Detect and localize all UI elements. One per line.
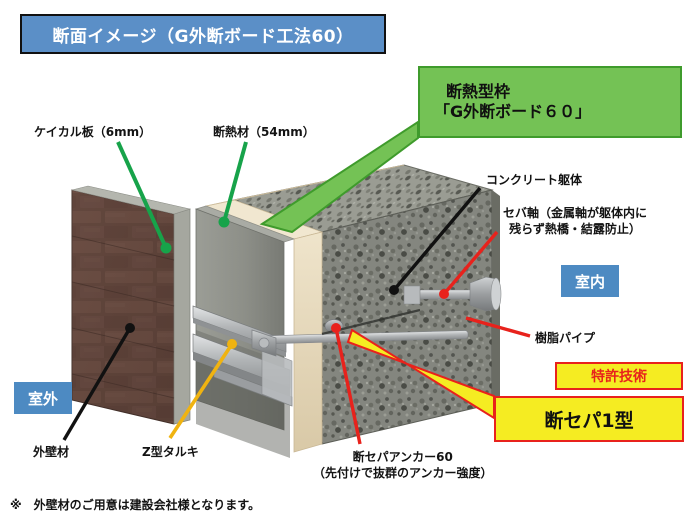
- label-insulation: 断熱材（54mm）: [213, 124, 315, 140]
- leader-seba-dot: [439, 289, 449, 299]
- product-box: 断セパ1型: [494, 396, 684, 442]
- leader-z-taruki-dot: [227, 339, 237, 349]
- brick-edge-core: [174, 209, 190, 424]
- leader-concrete-dot: [389, 285, 399, 295]
- seba-rod-bolt-head: [259, 338, 269, 348]
- diagram-title-banner: 断面イメージ（G外断ボード工法60）: [20, 14, 386, 54]
- label-resin-pipe: 樹脂パイプ: [535, 330, 595, 346]
- outdoor-side-badge: 室外: [14, 382, 72, 414]
- label-anchor-line2: （先付けで抜群のアンカー強度）: [313, 465, 493, 481]
- seba-rod-socket: [404, 286, 420, 304]
- brick-tint: [72, 190, 174, 424]
- leader-insulation-dot: [219, 217, 230, 228]
- label-anchor: 断セパアンカー60 （先付けで抜群のアンカー強度）: [313, 449, 493, 481]
- label-keikal-board: ケイカル板（6mm）: [34, 124, 151, 140]
- outdoor-badge-text: 室外: [28, 388, 58, 409]
- label-concrete-body: コンクリート躯体: [486, 172, 582, 188]
- leader-keikal-dot: [161, 243, 172, 254]
- callout-line-1: 断熱型枠: [446, 82, 510, 102]
- product-name-callout: 断熱型枠 「G外断ボード６０」: [418, 66, 682, 138]
- label-seba-shaft-line2: 残らず熱橋・結露防止）: [503, 221, 647, 237]
- leader-anchor-dot: [331, 323, 341, 333]
- leader-exterior-dot: [125, 323, 135, 333]
- diagram-canvas: 断面イメージ（G外断ボード工法60） 断熱型枠 「G外断ボード６０」 特許技術 …: [0, 0, 700, 525]
- footnote: ※ 外壁材のご用意は建設会社様となります。: [10, 496, 260, 513]
- indoor-badge-text: 室内: [575, 271, 605, 292]
- brick-exterior-panel: [72, 186, 190, 424]
- callout-line-2: 「G外断ボード６０」: [434, 102, 591, 122]
- label-seba-shaft: セバ軸（金属軸が躯体内に 残らず熱橋・結露防止）: [503, 205, 647, 237]
- patent-badge-text: 特許技術: [591, 366, 647, 386]
- label-exterior-wall: 外壁材: [33, 444, 69, 460]
- seba-rod-cap: [491, 278, 501, 310]
- label-z-taruki: Z型タルキ: [142, 444, 199, 460]
- label-anchor-line1: 断セパアンカー60: [313, 449, 493, 465]
- diagram-title-text: 断面イメージ（G外断ボード工法60）: [52, 22, 353, 47]
- patent-badge: 特許技術: [555, 362, 683, 390]
- product-box-text: 断セパ1型: [544, 406, 633, 433]
- indoor-side-badge: 室内: [561, 265, 619, 297]
- label-seba-shaft-line1: セバ軸（金属軸が躯体内に: [503, 205, 647, 221]
